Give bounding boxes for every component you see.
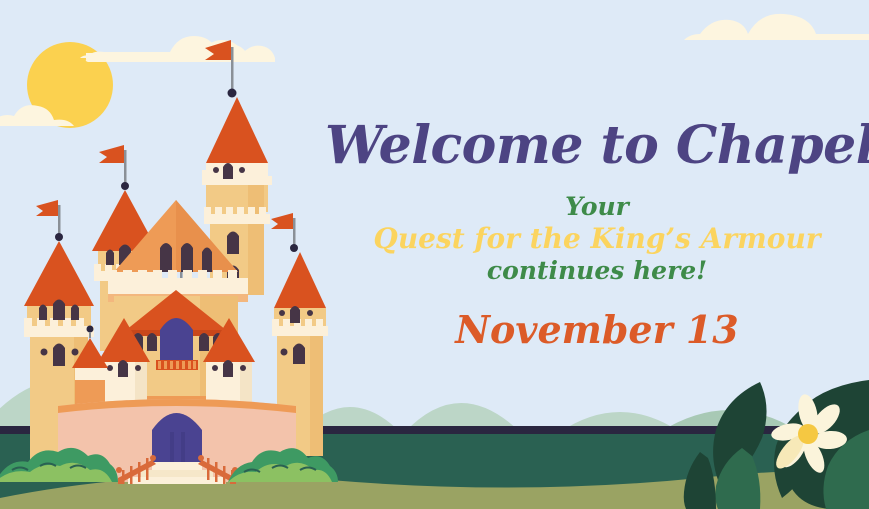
daisy-center (798, 424, 818, 444)
subtitle-line-1: Your (325, 192, 869, 222)
poster-canvas: Welcome to Chapel Your Quest for the Kin… (0, 0, 869, 509)
subtitle-line-2: Quest for the King’s Armour (325, 222, 869, 256)
subtitle-line-3: continues here! (325, 256, 869, 286)
foliage-leaf-d (684, 452, 716, 509)
poster-text-block: Welcome to Chapel Your Quest for the Kin… (325, 118, 869, 368)
page-title: Welcome to Chapel (325, 118, 869, 174)
event-date: November 13 (325, 308, 869, 352)
